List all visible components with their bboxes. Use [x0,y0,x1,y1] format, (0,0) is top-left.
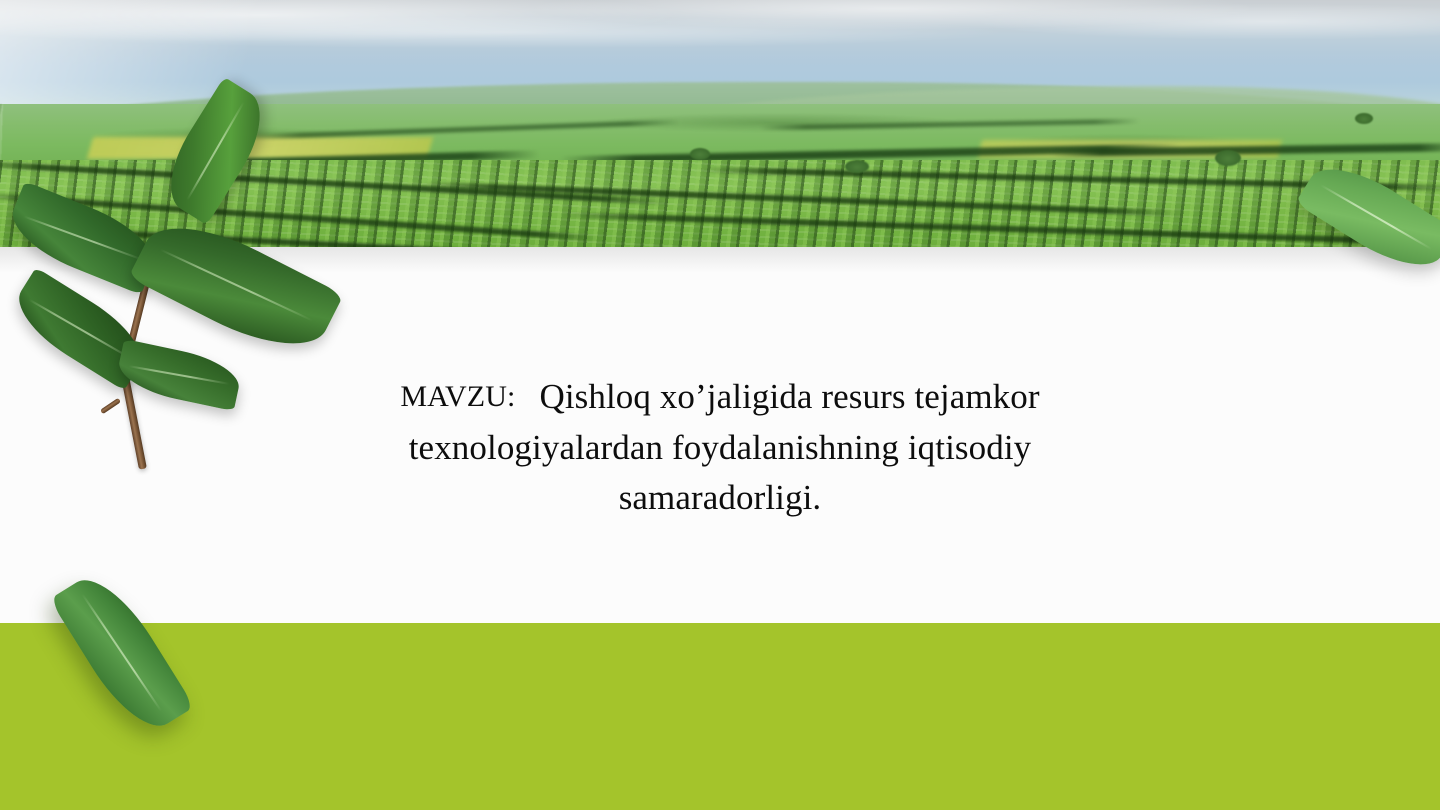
title-line-1: MAVZU:Qishloq xo’jaligida resurs tejamko… [150,372,1290,423]
title-text-line-2: texnologiyalardan foydalanishning iqtiso… [150,423,1290,473]
title-label: MAVZU: [400,380,515,413]
presentation-slide: MAVZU:Qishloq xo’jaligida resurs tejamko… [0,0,1440,810]
leaf-icon [153,77,279,225]
title-text-line-3: samaradorligi. [150,473,1290,523]
leaf-branch-top-left [0,55,330,425]
distant-tree [845,160,869,173]
branch-stem-icon [100,398,121,414]
distant-tree [1215,150,1241,166]
distant-tree [690,148,710,160]
distant-tree [1355,113,1373,124]
leaf-icon [128,204,343,368]
bottom-accent-bar [0,623,1440,810]
slide-title-block: MAVZU:Qishloq xo’jaligida resurs tejamko… [150,372,1290,523]
title-text-line-1: Qishloq xo’jaligida resurs tejamkor [539,377,1039,416]
